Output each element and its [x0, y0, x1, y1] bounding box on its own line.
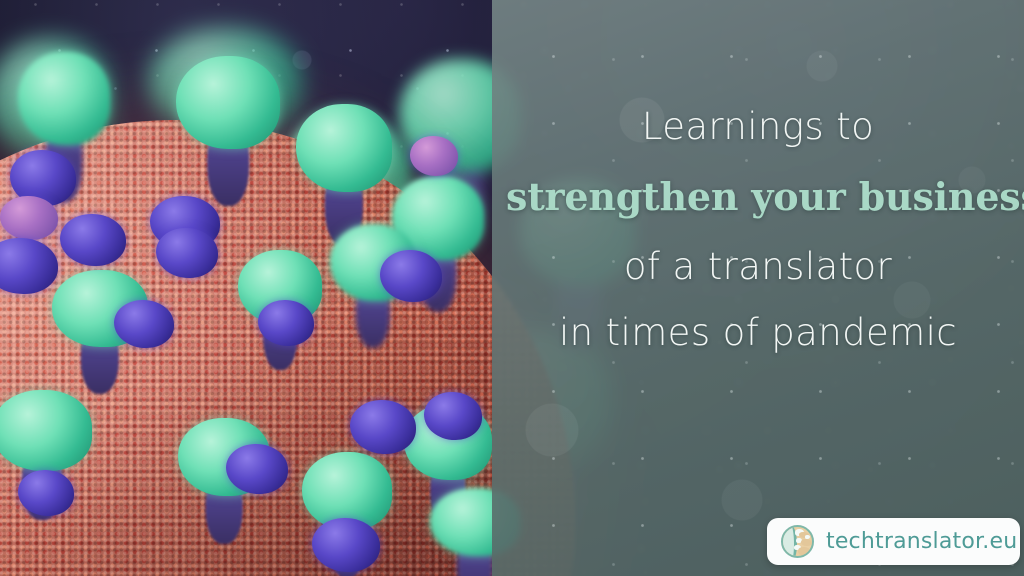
headline-block: Learnings to strengthen your business of…	[492, 94, 1024, 366]
logo-text: techtranslator.eu	[826, 529, 1017, 554]
presentation-slide: Learnings to strengthen your business of…	[0, 0, 1024, 576]
brand-logo[interactable]: techtranslator.eu	[767, 518, 1020, 565]
headline-line-2: strengthen your business	[506, 160, 1010, 234]
headline-line-1: Learnings to	[506, 94, 1010, 160]
headline-line-3: of a translator	[506, 234, 1010, 300]
headline-line-4: in times of pandemic	[506, 300, 1010, 366]
globe-icon	[781, 525, 814, 558]
